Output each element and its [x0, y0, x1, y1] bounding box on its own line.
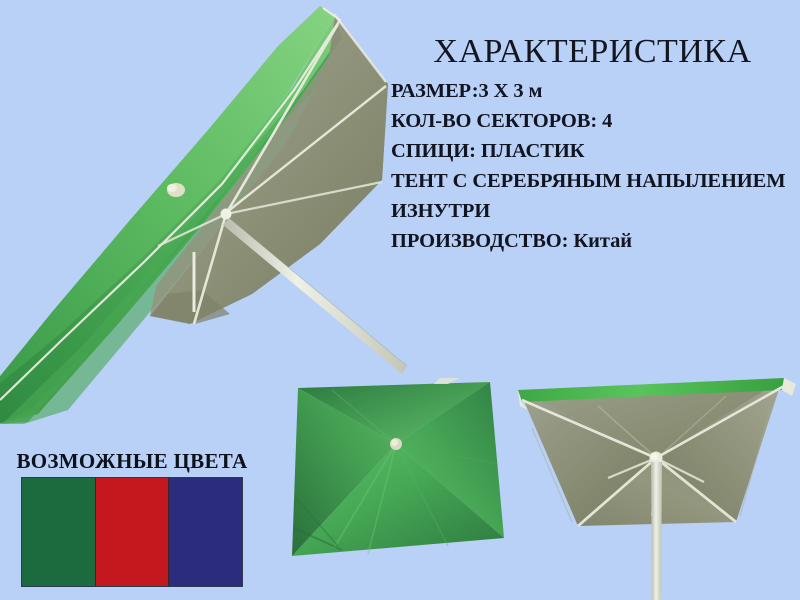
tilted-green-umbrella-photo — [0, 0, 410, 424]
spec-line-coating: ТЕНТ С СЕРЕБРЯНЫМ НАПЫЛЕНИЕМ — [391, 166, 800, 196]
available-colors-title: ВОЗМОЖНЫЕ ЦВЕТА — [16, 448, 248, 474]
silver-underside-umbrella-photo — [512, 366, 800, 600]
green-square-umbrella-photo — [272, 378, 520, 578]
spec-line-origin: ПРОИЗВОДСТВО: Китай — [391, 226, 800, 256]
color-swatch-blue[interactable] — [168, 478, 242, 586]
available-colors-panel: ВОЗМОЖНЫЕ ЦВЕТА — [16, 448, 248, 587]
spec-line-sectors: КОЛ-ВО СЕКТОРОВ: 4 — [391, 106, 800, 136]
specification-block: ХАРАКТЕРИСТИКА РАЗМЕР:3 X 3 м КОЛ-ВО СЕК… — [391, 32, 800, 256]
spec-line-coating-cont: ИЗНУТРИ — [391, 196, 800, 226]
color-swatch-row — [21, 477, 243, 587]
page-title: ХАРАКТЕРИСТИКА — [391, 32, 800, 72]
spec-line-ribs: СПИЦИ: ПЛАСТИК — [391, 136, 800, 166]
color-swatch-green[interactable] — [22, 478, 95, 586]
product-infographic: ХАРАКТЕРИСТИКА РАЗМЕР:3 X 3 м КОЛ-ВО СЕК… — [0, 0, 800, 600]
spec-line-size: РАЗМЕР:3 X 3 м — [391, 76, 800, 106]
color-swatch-red[interactable] — [95, 478, 169, 586]
